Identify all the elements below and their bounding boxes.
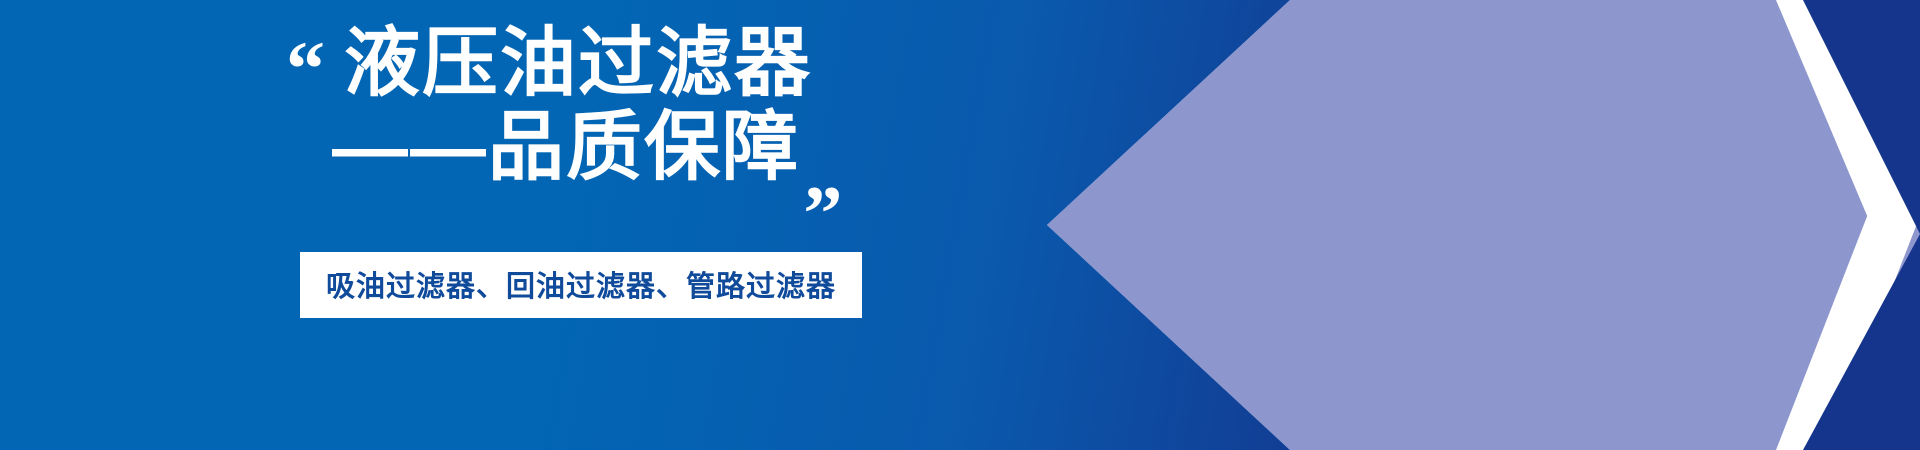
headline-line-2: ——品质保障 <box>332 105 800 190</box>
subtitle-box: 吸油过滤器、回油过滤器、管路过滤器 <box>300 252 862 318</box>
headline-line-2-wrap: ——品质保障„ <box>286 106 886 212</box>
promo-banner: “ 液压油过滤器 ——品质保障„ 吸油过滤器、回油过滤器、管路过滤器 <box>0 0 1920 450</box>
product-panel <box>1020 0 1920 450</box>
quote-open-icon: “ <box>286 30 325 108</box>
subtitle-text: 吸油过滤器、回油过滤器、管路过滤器 <box>326 263 836 305</box>
chevron-left-icon <box>1020 0 1920 450</box>
headline-block: “ 液压油过滤器 ——品质保障„ <box>286 22 886 212</box>
headline-line-1: 液压油过滤器 <box>286 22 886 106</box>
quote-close-icon: „ <box>804 134 845 212</box>
